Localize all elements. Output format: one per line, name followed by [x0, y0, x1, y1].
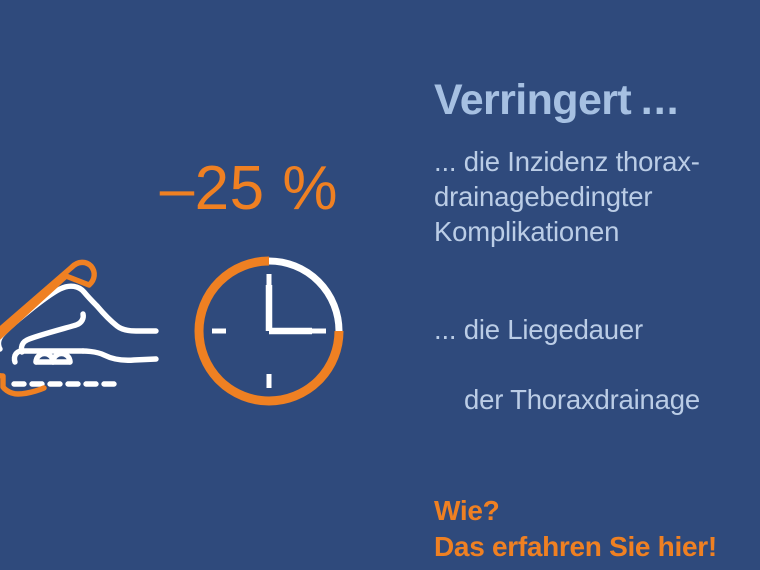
benefit-duration: ... die Liegedauer der Thoraxdrainage	[434, 278, 760, 453]
clock-three-quarter-icon	[190, 252, 348, 410]
infographic-slide: –25 %	[0, 0, 760, 570]
cta-question: Wie?	[434, 493, 760, 530]
stat-percentage: –25 %	[0, 158, 370, 220]
call-to-action[interactable]: Wie? Das erfahren Sie hier!	[434, 493, 760, 567]
benefit-duration-line1: ... die Liegedauer	[434, 313, 760, 348]
headline-word: Verringert	[434, 76, 631, 124]
hand-holding-drain-tube-icon	[0, 248, 176, 398]
copy-column: Verringert ... ... die Inzidenz thorax- …	[434, 78, 760, 518]
graphics-column: –25 %	[0, 0, 400, 570]
benefit-incidence: ... die Inzidenz thorax- drainagebedingt…	[434, 145, 760, 250]
cta-link[interactable]: Das erfahren Sie hier!	[434, 529, 760, 566]
page-title: Verringert ...	[434, 78, 760, 123]
headline-ellipsis: ...	[631, 76, 679, 124]
benefit-duration-line2: der Thoraxdrainage	[434, 383, 760, 418]
